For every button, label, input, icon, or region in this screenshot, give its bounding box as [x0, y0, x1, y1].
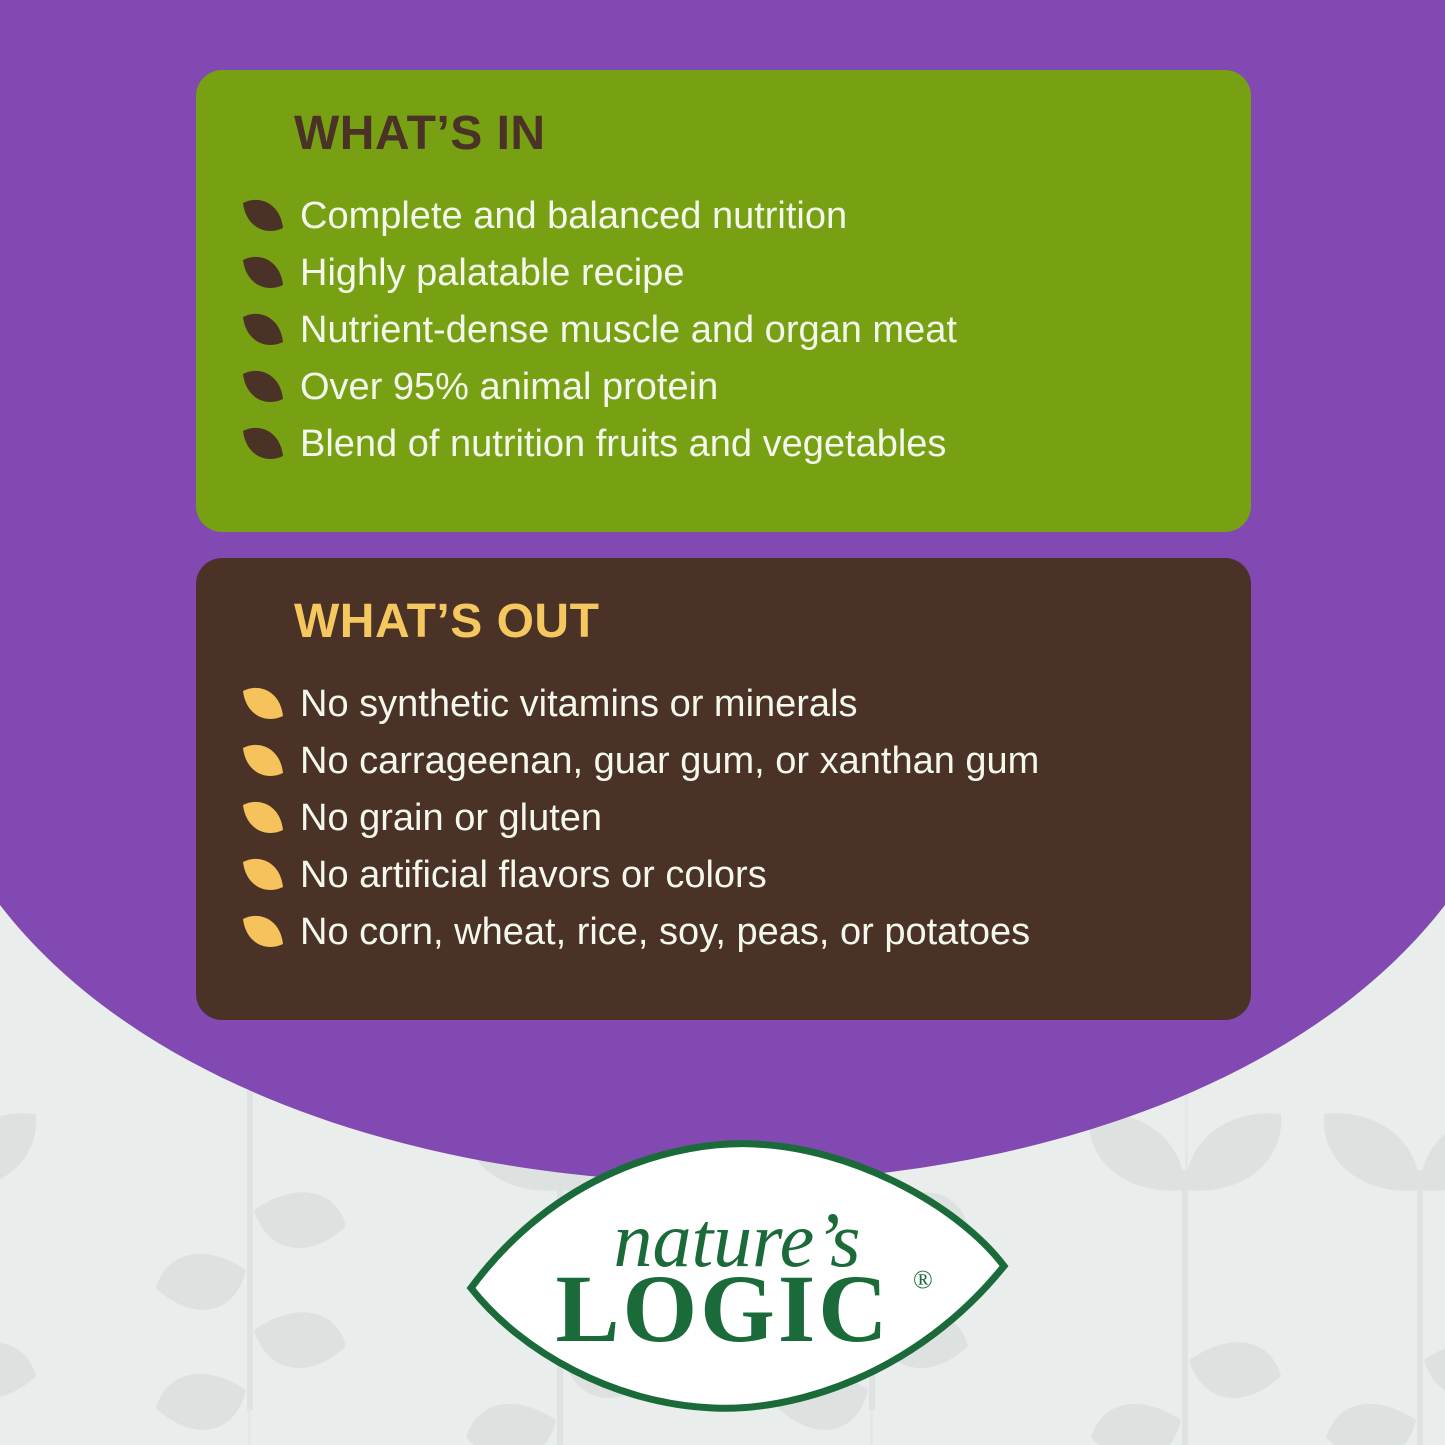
list-item: No carrageenan, guar gum, or xanthan gum [240, 737, 1207, 785]
whats-out-title: WHAT’S OUT [294, 598, 1207, 646]
list-item-label: No artificial flavors or colors [300, 853, 767, 897]
natures-logic-logo: nature’s LOGIC ® [465, 1138, 1010, 1416]
list-item: Complete and balanced nutrition [240, 192, 1207, 240]
list-item: No grain or gluten [240, 794, 1207, 842]
list-item: No artificial flavors or colors [240, 851, 1207, 899]
whats-out-card: WHAT’S OUT No synthetic vitamins or mine… [196, 558, 1251, 1020]
leaf-icon [240, 741, 286, 781]
whats-in-list: Complete and balanced nutrition Highly p… [240, 192, 1207, 468]
list-item: Highly palatable recipe [240, 249, 1207, 297]
list-item: Blend of nutrition fruits and vegetables [240, 420, 1207, 468]
leaf-icon [240, 196, 286, 236]
leaf-icon [240, 424, 286, 464]
list-item-label: Highly palatable recipe [300, 251, 684, 295]
list-item: Over 95% animal protein [240, 363, 1207, 411]
list-item-label: No carrageenan, guar gum, or xanthan gum [300, 739, 1039, 783]
list-item-label: No corn, wheat, rice, soy, peas, or pota… [300, 910, 1030, 954]
leaf-icon [240, 684, 286, 724]
leaf-icon [240, 912, 286, 952]
list-item-label: No synthetic vitamins or minerals [300, 682, 858, 726]
leaf-icon [240, 798, 286, 838]
list-item-label: Blend of nutrition fruits and vegetables [300, 422, 946, 466]
list-item-label: No grain or gluten [300, 796, 602, 840]
list-item-label: Over 95% animal protein [300, 365, 718, 409]
leaf-icon [240, 855, 286, 895]
list-item-label: Nutrient-dense muscle and organ meat [300, 308, 957, 352]
whats-in-card: WHAT’S IN Complete and balanced nutritio… [196, 70, 1251, 532]
product-benefits-panel: WHAT’S IN Complete and balanced nutritio… [0, 0, 1445, 1445]
whats-in-title: WHAT’S IN [294, 110, 1207, 158]
list-item: Nutrient-dense muscle and organ meat [240, 306, 1207, 354]
leaf-icon [240, 367, 286, 407]
list-item: No corn, wheat, rice, soy, peas, or pota… [240, 908, 1207, 956]
list-item: No synthetic vitamins or minerals [240, 680, 1207, 728]
leaf-icon [240, 253, 286, 293]
logo-serif-word: LOGIC [555, 1255, 890, 1362]
leaf-icon [240, 310, 286, 350]
registered-trademark-icon: ® [913, 1265, 933, 1294]
whats-out-list: No synthetic vitamins or minerals No car… [240, 680, 1207, 956]
list-item-label: Complete and balanced nutrition [300, 194, 847, 238]
